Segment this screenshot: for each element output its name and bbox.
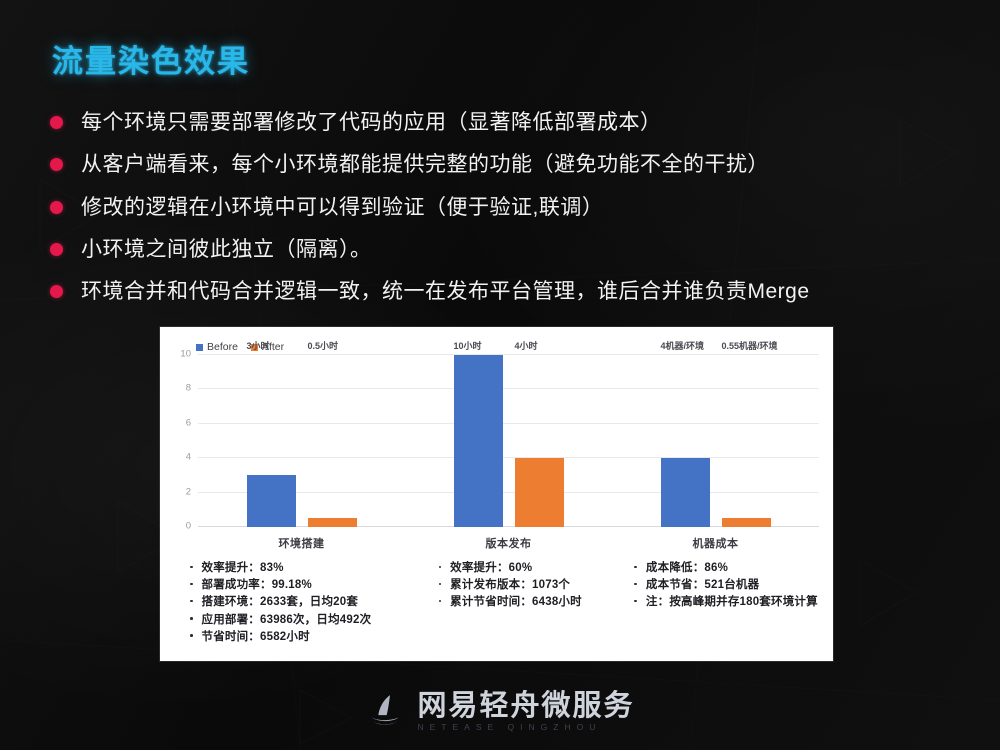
stats-column-0: 效率提升：83% 部署成功率：99.18% 搭建环境：2633套，日均20套 应…: [174, 561, 431, 661]
stat-bullet-icon: [190, 583, 193, 586]
bar-before-1[interactable]: 10小时: [454, 355, 503, 527]
bullet-text: 修改的逻辑在小环境中可以得到验证（便于验证,联调）: [81, 193, 603, 223]
stats-panel: 效率提升：83% 部署成功率：99.18% 搭建环境：2633套，日均20套 应…: [160, 561, 833, 661]
y-axis-tick: 0: [186, 521, 191, 532]
stat-bullet-icon: [439, 566, 442, 569]
bar-chart: Before After 10 8 6: [160, 327, 833, 555]
logo-subtitle: NetEase QingZhou: [417, 722, 634, 732]
stat-bullet-icon: [190, 617, 193, 620]
stat-item: 成本节省：521台机器: [634, 578, 833, 593]
stats-column-1: 效率提升：60% 累计发布版本：1073个 累计节省时间：6438小时: [431, 561, 629, 661]
bullet-list: 每个环境只需要部署修改了代码的应用（显著降低部署成本） 从客户端看来，每个小环境…: [50, 108, 970, 320]
list-item: 环境合并和代码合并逻辑一致，统一在发布平台管理，谁后合并谁负责Merge: [50, 277, 970, 307]
stat-bullet-icon: [190, 566, 193, 569]
legend-swatch-icon: [196, 344, 203, 351]
stats-column-2: 成本降低：86% 成本节省：521台机器 注：按高峰期并存180套环境计算: [628, 561, 833, 661]
bar-wrap-after-2: 0.55机器/环境: [722, 355, 771, 527]
stat-text: 应用部署：63986次，日均492次: [202, 613, 372, 628]
chart-legend: Before After: [196, 341, 284, 353]
stat-bullet-icon: [190, 600, 193, 603]
stat-bullet-icon: [439, 583, 442, 586]
page-title: 流量染色效果: [52, 36, 250, 81]
bullet-text: 小环境之间彼此独立（隔离）。: [81, 235, 372, 265]
y-axis-tick: 4: [186, 452, 191, 463]
bar-group-1: 10小时 4小时 版本发布: [405, 355, 612, 527]
stat-bullet-icon: [190, 634, 193, 637]
chart-card: Before After 10 8 6: [160, 327, 833, 661]
stat-bullet-icon: [634, 566, 637, 569]
list-item: 修改的逻辑在小环境中可以得到验证（便于验证,联调）: [50, 193, 970, 223]
list-item: 每个环境只需要部署修改了代码的应用（显著降低部署成本）: [50, 108, 970, 138]
stat-text: 成本节省：521台机器: [646, 578, 759, 593]
bar-value-label: 0.5小时: [308, 339, 339, 352]
legend-item-before: Before: [196, 341, 238, 353]
bar-groups: 3小时 0.5小时 环境搭建: [198, 355, 819, 527]
bar-value-label: 0.55机器/环境: [722, 339, 778, 352]
bar-wrap-after-0: 0.5小时: [308, 355, 357, 527]
bullet-dot-icon: [50, 158, 63, 171]
bar-before-0[interactable]: 3小时: [247, 475, 296, 527]
bullet-text: 从客户端看来，每个小环境都能提供完整的功能（避免功能不全的干扰）: [81, 150, 769, 180]
bullet-dot-icon: [50, 243, 63, 256]
x-axis-label-2: 机器成本: [612, 535, 819, 551]
sailboat-logo-icon: [365, 691, 405, 731]
y-axis-tick: 10: [180, 349, 191, 360]
footer-logo: 网易轻舟微服务 NetEase QingZhou: [0, 691, 1000, 732]
bar-after-0[interactable]: 0.5小时: [308, 518, 357, 527]
stat-item: 应用部署：63986次，日均492次: [190, 613, 431, 628]
stat-text: 节省时间：6582小时: [202, 630, 310, 645]
stat-text: 部署成功率：99.18%: [202, 578, 312, 593]
list-item: 从客户端看来，每个小环境都能提供完整的功能（避免功能不全的干扰）: [50, 150, 970, 180]
list-item: 小环境之间彼此独立（隔离）。: [50, 235, 970, 265]
y-axis-tick: 2: [186, 486, 191, 497]
bar-value-label: 4小时: [515, 339, 538, 352]
stat-item: 累计节省时间：6438小时: [439, 595, 629, 610]
bullet-dot-icon: [50, 116, 63, 129]
x-axis-label-1: 版本发布: [405, 535, 612, 551]
y-axis-tick: 8: [186, 383, 191, 394]
slide: 流量染色效果 每个环境只需要部署修改了代码的应用（显著降低部署成本） 从客户端看…: [0, 0, 1000, 750]
y-axis-tick: 6: [186, 417, 191, 428]
stat-item: 成本降低：86%: [634, 561, 833, 576]
bar-wrap-before-1: 10小时: [454, 355, 503, 527]
stat-text: 累计发布版本：1073个: [450, 578, 570, 593]
bar-group-0: 3小时 0.5小时 环境搭建: [198, 355, 405, 527]
logo-name: 网易轻舟微服务: [417, 691, 634, 721]
stat-text: 效率提升：83%: [202, 561, 284, 576]
stat-bullet-icon: [634, 583, 637, 586]
bar-wrap-before-2: 4机器/环境: [661, 355, 710, 527]
stat-item: 效率提升：83%: [190, 561, 431, 576]
stat-item: 节省时间：6582小时: [190, 630, 431, 645]
bullet-dot-icon: [50, 285, 63, 298]
plot-area: 10 8 6 4 2 0: [198, 355, 819, 527]
bar-value-label: 10小时: [454, 339, 482, 352]
bar-value-label: 3小时: [247, 339, 270, 352]
stat-text: 累计节省时间：6438小时: [450, 595, 582, 610]
bar-wrap-after-1: 4小时: [515, 355, 564, 527]
stat-item: 注：按高峰期并存180套环境计算: [634, 595, 833, 610]
x-axis-label-0: 环境搭建: [198, 535, 405, 551]
logo-text-block: 网易轻舟微服务 NetEase QingZhou: [417, 691, 634, 732]
bullet-text: 每个环境只需要部署修改了代码的应用（显著降低部署成本）: [81, 108, 662, 138]
stat-bullet-icon: [439, 600, 442, 603]
stat-text: 搭建环境：2633套，日均20套: [202, 595, 359, 610]
bar-before-2[interactable]: 4机器/环境: [661, 458, 710, 527]
bar-after-2[interactable]: 0.55机器/环境: [722, 518, 771, 527]
stat-item: 部署成功率：99.18%: [190, 578, 431, 593]
stat-text: 成本降低：86%: [646, 561, 728, 576]
stat-text: 效率提升：60%: [450, 561, 532, 576]
bullet-text: 环境合并和代码合并逻辑一致，统一在发布平台管理，谁后合并谁负责Merge: [81, 277, 810, 307]
stat-text: 注：按高峰期并存180套环境计算: [646, 595, 818, 610]
legend-label: Before: [207, 341, 238, 353]
bar-group-2: 4机器/环境 0.55机器/环境 机器成本: [612, 355, 819, 527]
stat-item: 效率提升：60%: [439, 561, 629, 576]
bar-value-label: 4机器/环境: [661, 339, 705, 352]
bar-after-1[interactable]: 4小时: [515, 458, 564, 527]
stat-item: 搭建环境：2633套，日均20套: [190, 595, 431, 610]
bar-wrap-before-0: 3小时: [247, 355, 296, 527]
bullet-dot-icon: [50, 201, 63, 214]
stat-item: 累计发布版本：1073个: [439, 578, 629, 593]
stat-bullet-icon: [634, 600, 637, 603]
